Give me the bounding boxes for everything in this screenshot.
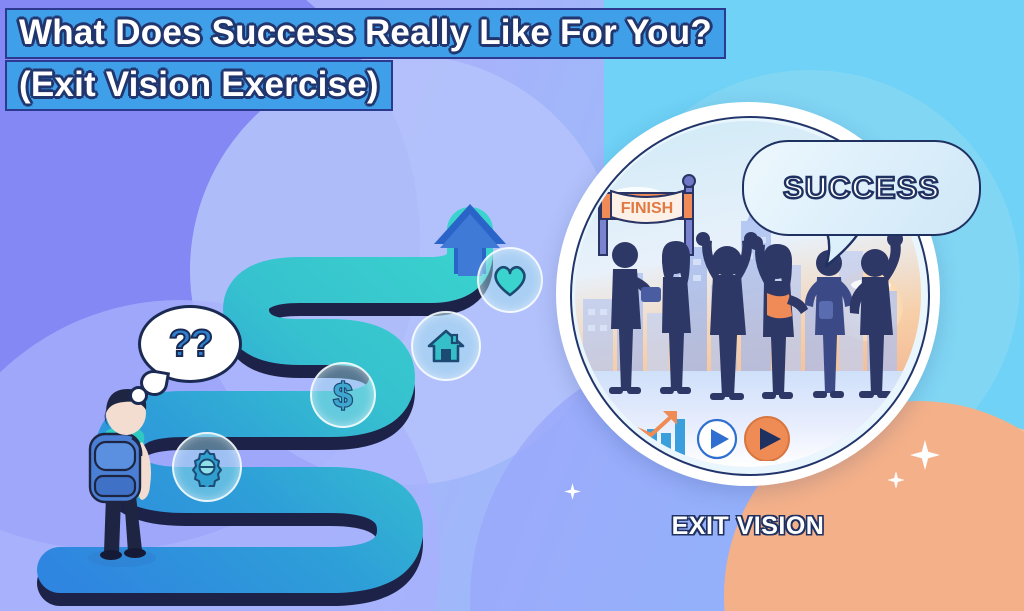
person — [660, 241, 691, 394]
dollar-icon: $ — [325, 376, 361, 414]
play-outline-icon[interactable] — [698, 420, 736, 458]
person — [696, 232, 758, 400]
milestone-dollar[interactable]: $ — [310, 362, 376, 428]
finish-banner-text: FINISH — [621, 200, 673, 217]
svg-text:$: $ — [334, 377, 353, 414]
person — [609, 242, 661, 394]
heart-icon — [491, 263, 529, 297]
vision-footer-icons — [615, 409, 845, 461]
milestone-heart[interactable] — [477, 247, 543, 313]
sparkle-icon — [886, 470, 906, 490]
title-block: What Does Success Really Like For You? (… — [5, 8, 726, 111]
person — [749, 236, 808, 399]
milestone-gear[interactable] — [172, 432, 242, 502]
person — [805, 250, 853, 398]
vision-caption: EXIT VISION — [556, 512, 940, 541]
thought-bubble-text: ?? — [169, 323, 211, 366]
milestone-house[interactable] — [411, 311, 481, 381]
gear-icon — [187, 447, 227, 487]
play-filled-icon[interactable] — [745, 417, 789, 461]
speech-bubble-text: SUCCESS — [783, 170, 940, 206]
infographic-canvas: $ ?? — [0, 0, 1024, 611]
thought-bubble-tail-small — [129, 386, 148, 405]
title-line-1: What Does Success Really Like For You? — [5, 8, 726, 59]
house-icon — [426, 327, 466, 365]
title-line-2: (Exit Vision Exercise) — [5, 60, 393, 111]
speech-bubble: SUCCESS — [742, 140, 981, 236]
backpacker-figure — [62, 386, 182, 571]
growth-bar-chart-icon — [619, 411, 685, 459]
